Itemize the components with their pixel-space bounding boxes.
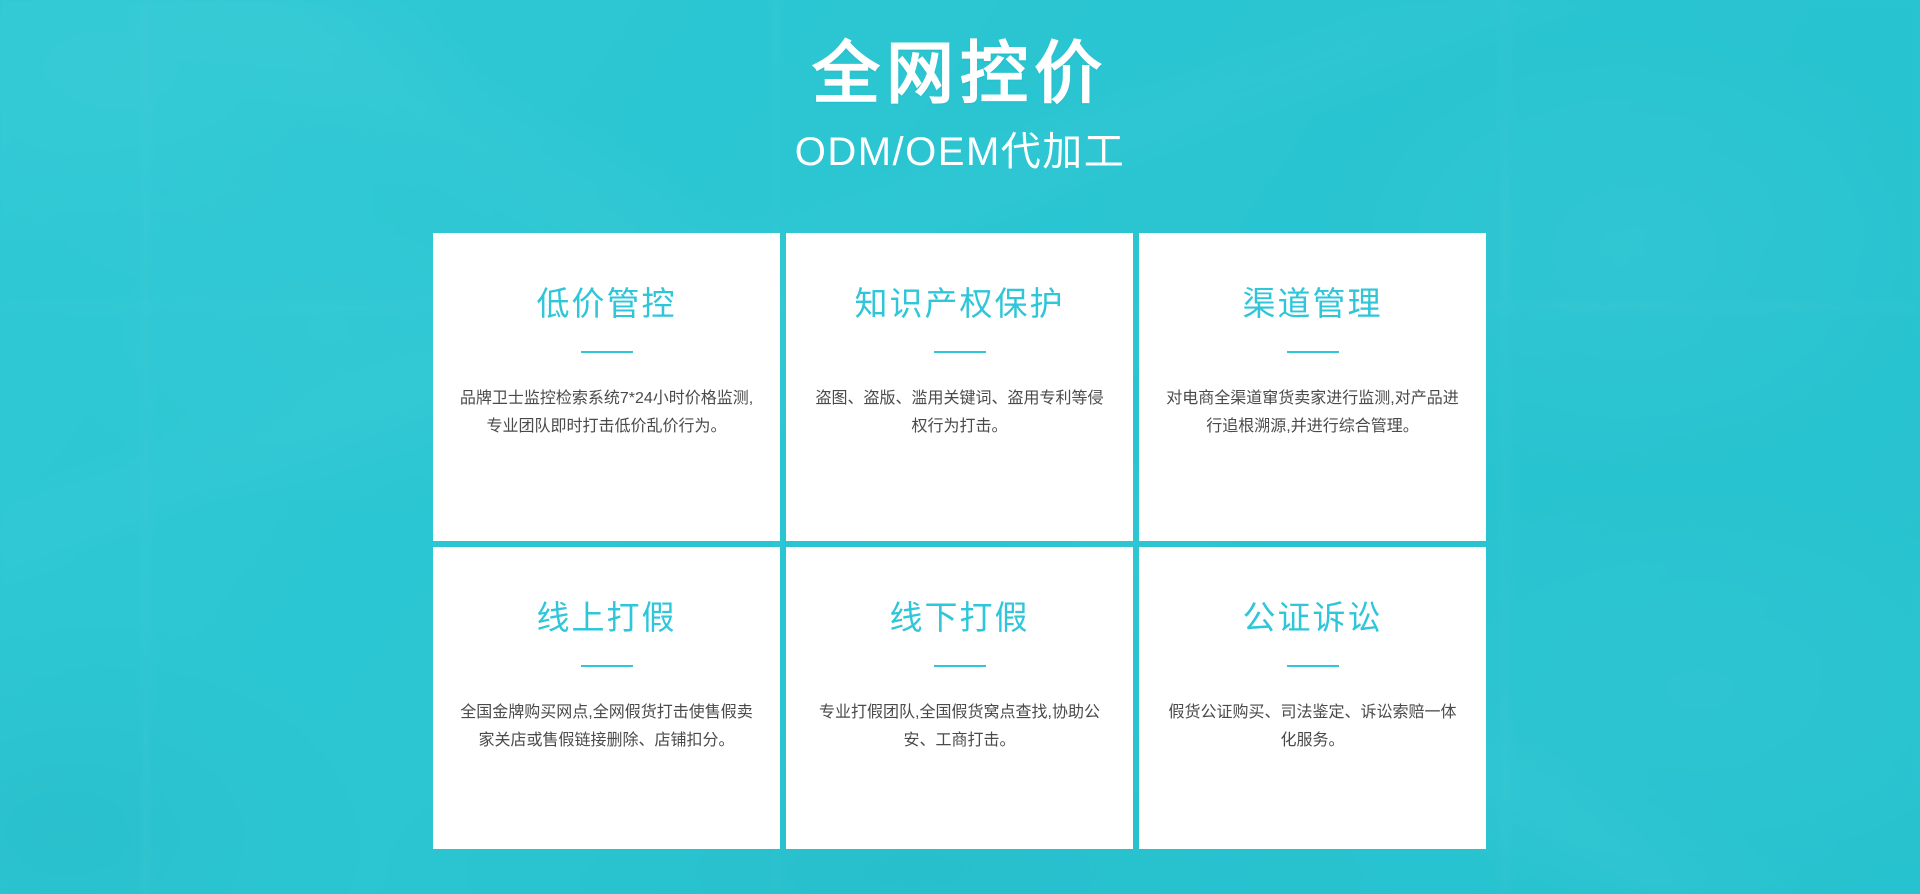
page-root: 全网控价 ODM/OEM代加工 低价管控 品牌卫士监控检索系统7*24小时价格监… [0, 0, 1920, 894]
divider [1287, 665, 1339, 667]
page-subtitle: ODM/OEM代加工 [0, 128, 1920, 176]
service-card-title: 渠道管理 [1243, 283, 1383, 324]
service-card-description: 假货公证购买、司法鉴定、诉讼索赔一体化服务。 [1165, 699, 1460, 754]
divider [581, 351, 633, 353]
service-card[interactable]: 线下打假 专业打假团队,全国假货窝点查找,协助公安、工商打击。 [786, 547, 1133, 849]
divider [934, 351, 986, 353]
service-card[interactable]: 渠道管理 对电商全渠道窜货卖家进行监测,对产品进行追根溯源,并进行综合管理。 [1139, 233, 1486, 541]
service-card-description: 专业打假团队,全国假货窝点查找,协助公安、工商打击。 [812, 699, 1107, 754]
service-card-title: 低价管控 [537, 283, 677, 324]
service-card-title: 线上打假 [537, 597, 677, 638]
divider [1287, 351, 1339, 353]
service-card[interactable]: 低价管控 品牌卫士监控检索系统7*24小时价格监测,专业团队即时打击低价乱价行为… [433, 233, 780, 541]
page-header: 全网控价 ODM/OEM代加工 [0, 0, 1920, 176]
service-card-grid: 低价管控 品牌卫士监控检索系统7*24小时价格监测,专业团队即时打击低价乱价行为… [433, 233, 1486, 849]
page-title: 全网控价 [0, 34, 1920, 114]
divider [934, 665, 986, 667]
service-card-description: 对电商全渠道窜货卖家进行监测,对产品进行追根溯源,并进行综合管理。 [1165, 385, 1460, 440]
divider [581, 665, 633, 667]
service-card[interactable]: 线上打假 全国金牌购买网点,全网假货打击使售假卖家关店或售假链接删除、店铺扣分。 [433, 547, 780, 849]
service-card[interactable]: 知识产权保护 盗图、盗版、滥用关键词、盗用专利等侵权行为打击。 [786, 233, 1133, 541]
service-card-title: 线下打假 [890, 597, 1030, 638]
service-card-description: 全国金牌购买网点,全网假货打击使售假卖家关店或售假链接删除、店铺扣分。 [459, 699, 754, 754]
service-card-description: 盗图、盗版、滥用关键词、盗用专利等侵权行为打击。 [812, 385, 1107, 440]
service-card-title: 公证诉讼 [1243, 597, 1383, 638]
service-card-title: 知识产权保护 [855, 283, 1065, 324]
service-card-description: 品牌卫士监控检索系统7*24小时价格监测,专业团队即时打击低价乱价行为。 [459, 385, 754, 440]
service-card[interactable]: 公证诉讼 假货公证购买、司法鉴定、诉讼索赔一体化服务。 [1139, 547, 1486, 849]
